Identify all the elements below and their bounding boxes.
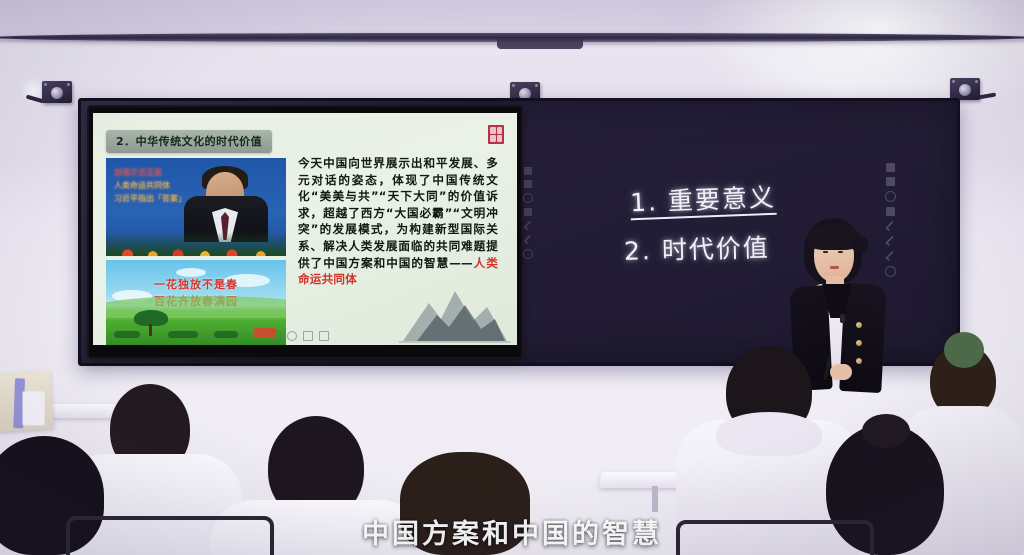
blazer-button: [856, 322, 862, 328]
clip-microphone-icon: [840, 314, 845, 323]
chalk-line-1: 1. 重要意义: [629, 175, 856, 220]
teacher-hair-bun: [852, 236, 868, 254]
square-icon[interactable]: [886, 163, 895, 172]
book-page: [23, 391, 45, 425]
smart-display-screen[interactable]: 2．中华传统文化的时代价值 加强交流互鉴 人类命运共同体 习近平指出「答案」: [89, 107, 521, 357]
blazer-button: [856, 358, 862, 364]
photo-caption-line-2: 人类命运共同体: [114, 179, 204, 192]
desk-leg: [652, 486, 658, 512]
circle-icon[interactable]: [523, 249, 533, 259]
classroom-scene: 2．中华传统文化的时代价值 加强交流互鉴 人类命运共同体 习近平指出「答案」: [0, 0, 1024, 555]
slide-photo-landscape: 一花独放不是春 百花齐放春满园: [106, 260, 286, 345]
tree-trunk: [149, 324, 152, 336]
pen-icon[interactable]: [523, 235, 533, 245]
square-icon[interactable]: [524, 180, 532, 188]
square-icon[interactable]: [886, 207, 895, 216]
square-icon[interactable]: [271, 331, 281, 341]
teacher-mouth: [830, 266, 839, 269]
square-icon[interactable]: [886, 177, 895, 186]
teacher-eye-right: [838, 251, 843, 253]
podium-flowers: [106, 232, 286, 256]
circle-icon[interactable]: [287, 331, 297, 341]
books-stack: [0, 370, 54, 432]
slide-body-main: 今天中国向世界展示出和平发展、多元对话的姿态，体现了中国传统文化“美美与共”“天…: [298, 156, 498, 270]
distant-hill: [106, 296, 286, 318]
circle-icon[interactable]: [885, 191, 896, 202]
square-icon[interactable]: [524, 167, 532, 175]
camera-lens-icon: [51, 87, 63, 99]
ceiling-camera-left: [42, 81, 72, 103]
square-icon[interactable]: [303, 331, 313, 341]
slide-title: 2．中华传统文化的时代价值: [106, 130, 272, 153]
slide-body-text: 今天中国向世界展示出和平发展、多元对话的姿态，体现了中国传统文化“美美与共”“天…: [298, 155, 498, 288]
slide-toolbar[interactable]: [271, 331, 329, 341]
student-hair-tie: [944, 332, 984, 368]
ceiling-camera-right: [950, 78, 980, 100]
camera-body: [42, 81, 72, 103]
square-icon[interactable]: [524, 208, 532, 216]
camera-body: [950, 78, 980, 100]
circle-icon[interactable]: [523, 193, 533, 203]
bush: [214, 331, 238, 338]
red-seal-icon: [488, 125, 504, 144]
teacher-eye-left: [823, 251, 828, 253]
board-toolbar-left[interactable]: [521, 167, 535, 259]
bush: [168, 331, 198, 338]
slide-photo-speech: 加强交流互鉴 人类命运共同体 习近平指出「答案」: [106, 158, 286, 256]
presentation-slide: 2．中华传统文化的时代价值 加强交流互鉴 人类命运共同体 习近平指出「答案」: [93, 113, 517, 345]
ceiling-rail-box: [497, 39, 583, 49]
photo-caption-line-1: 加强交流互鉴: [114, 166, 204, 179]
teacher-hand: [830, 364, 852, 380]
ink-mountain-decoration: [399, 281, 511, 343]
student-ponytail: [862, 414, 910, 448]
student-hood: [716, 412, 822, 456]
blazer-button: [856, 340, 862, 346]
camera-lens-icon: [959, 84, 971, 96]
video-subtitle: 中国方案和中国的智慧: [0, 512, 1024, 551]
square-icon[interactable]: [319, 331, 329, 341]
pen-icon[interactable]: [523, 221, 533, 231]
bush: [114, 331, 140, 338]
couplet-line-1: 一花独放不是春: [106, 276, 286, 293]
